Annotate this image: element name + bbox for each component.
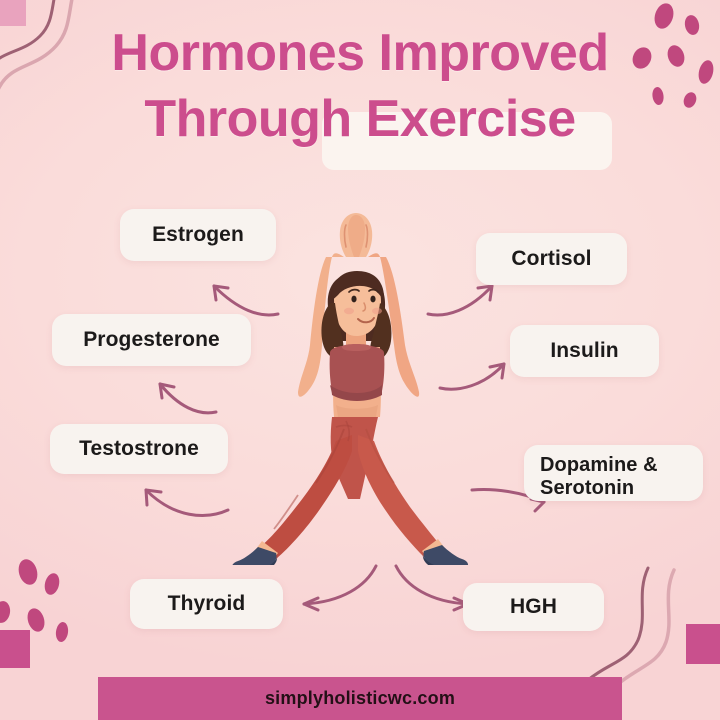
arrow-to-thyroid	[290, 560, 386, 612]
footer-bar: simplyholisticwc.com	[98, 677, 622, 720]
hormone-label-text: Estrogen	[152, 223, 244, 247]
hormone-label-text: Progesterone	[83, 328, 220, 352]
arrow-to-testostrone	[126, 478, 232, 524]
hormone-label-dopamine-serotonin[interactable]: Dopamine & Serotonin	[524, 445, 703, 501]
hormone-label-insulin[interactable]: Insulin	[510, 325, 659, 377]
hormone-label-text-line-1: Dopamine &	[540, 454, 687, 477]
hormone-label-testostrone[interactable]: Testostrone	[50, 424, 228, 474]
arrow-to-progesterone	[140, 372, 220, 424]
hormone-label-cortisol[interactable]: Cortisol	[476, 233, 627, 285]
square-accent-bottom-right	[686, 624, 720, 664]
hormone-label-text-line-2: Serotonin	[540, 477, 687, 500]
hormone-label-hgh[interactable]: HGH	[463, 583, 604, 631]
hormone-label-thyroid[interactable]: Thyroid	[130, 579, 283, 629]
website-url[interactable]: simplyholisticwc.com	[265, 688, 455, 709]
arrow-to-insulin	[436, 354, 518, 396]
hormone-label-progesterone[interactable]: Progesterone	[52, 314, 251, 366]
hormone-label-text: HGH	[510, 595, 557, 619]
title-line-one: Hormones Improved	[0, 22, 720, 84]
hormone-label-text: Testostrone	[79, 437, 199, 461]
infographic-poster: Hormones Improved Through Exercise	[0, 0, 720, 720]
hormone-label-text: Thyroid	[168, 592, 246, 616]
hormone-label-text: Cortisol	[511, 247, 591, 271]
square-accent-bottom-left	[0, 630, 30, 668]
hormone-label-estrogen[interactable]: Estrogen	[120, 209, 276, 261]
hormone-label-text: Insulin	[550, 339, 618, 363]
poster-title: Hormones Improved Through Exercise	[0, 22, 720, 150]
title-line-two: Through Exercise	[0, 88, 720, 150]
